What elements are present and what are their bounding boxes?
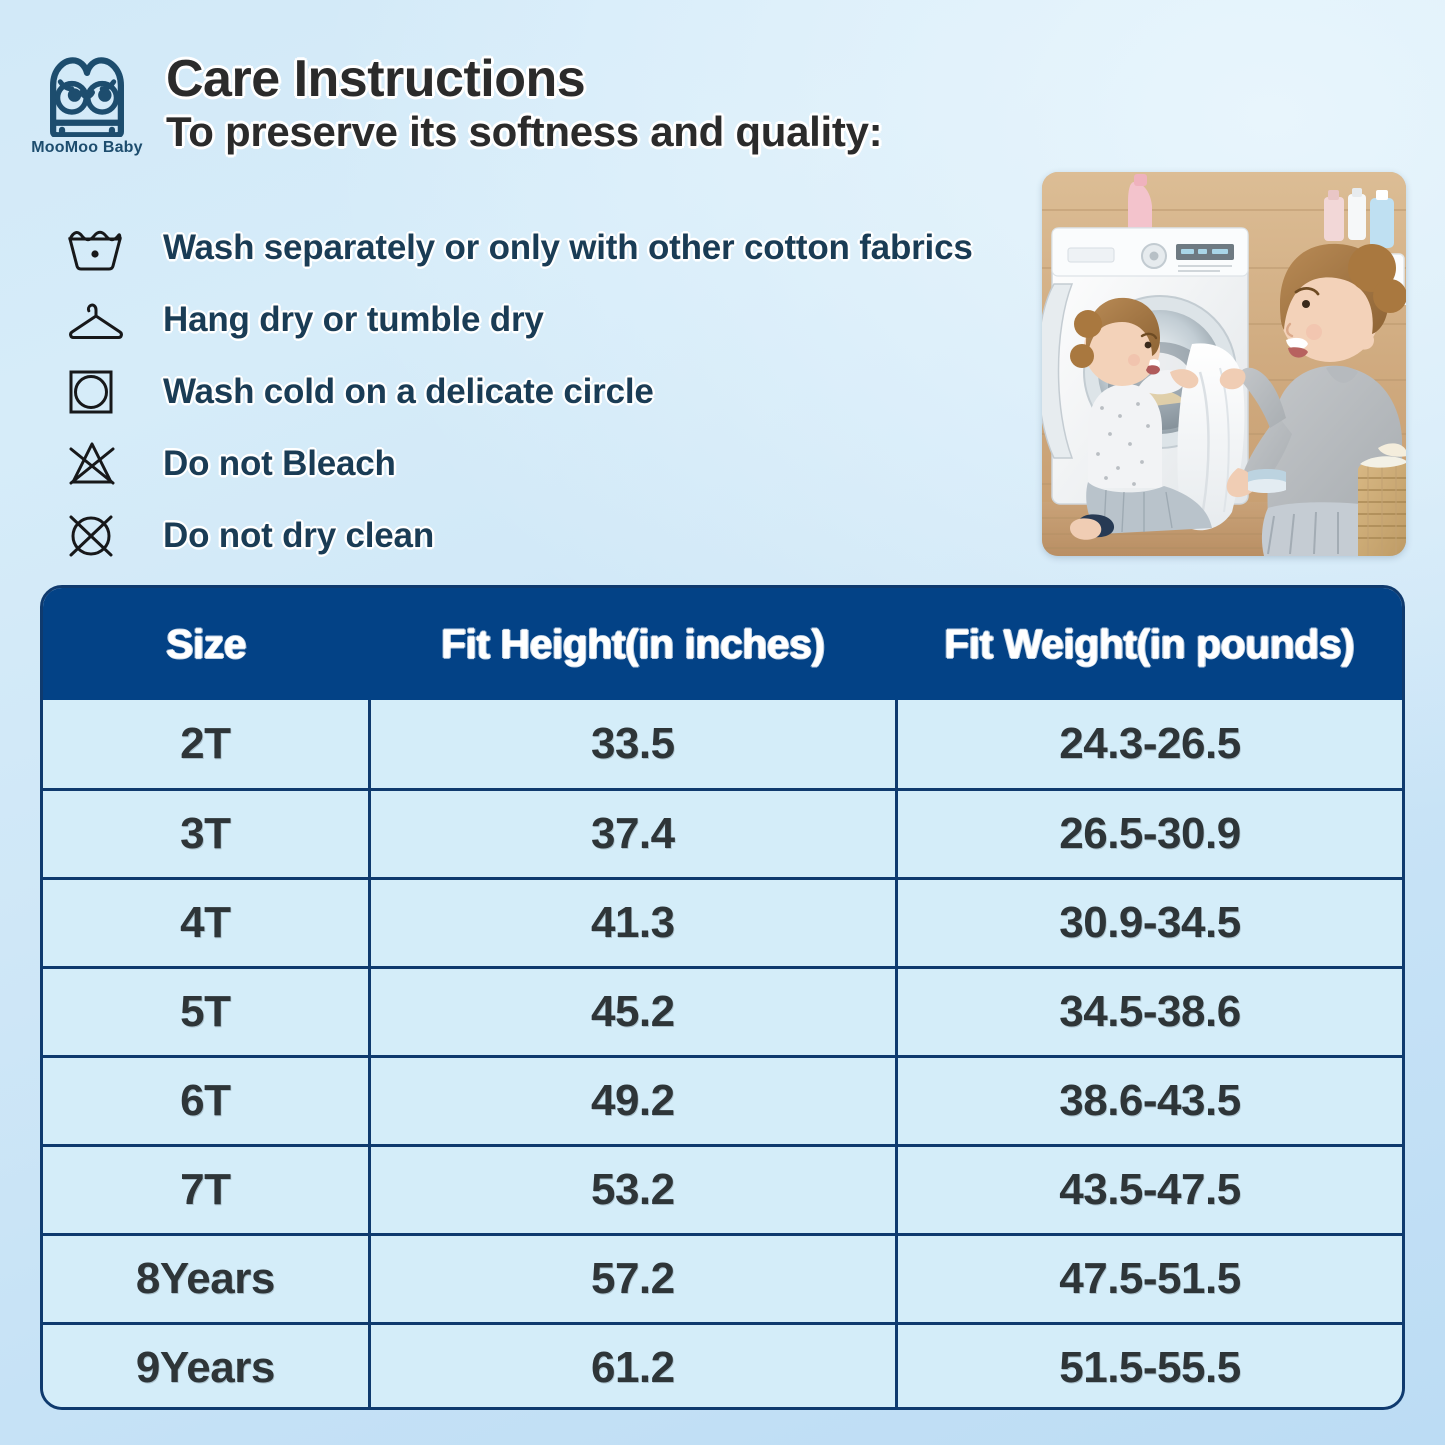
cell-weight: 26.5-30.9 — [896, 789, 1402, 878]
care-instruction-item: Wash cold on a delicate circle — [66, 356, 1046, 428]
table-row: 6T 49.2 38.6-43.5 — [43, 1056, 1402, 1145]
cell-weight: 47.5-51.5 — [896, 1234, 1402, 1323]
care-instruction-label: Wash separately or only with other cotto… — [163, 228, 973, 268]
table-row: 7T 53.2 43.5-47.5 — [43, 1145, 1402, 1234]
laundry-photo — [1042, 172, 1406, 556]
care-instruction-label: Wash cold on a delicate circle — [163, 372, 654, 412]
care-instruction-item: Do not dry clean — [66, 500, 1046, 572]
cell-height: 61.2 — [369, 1323, 896, 1410]
cell-size: 2T — [43, 700, 369, 789]
table-row: 8Years 57.2 47.5-51.5 — [43, 1234, 1402, 1323]
cell-height: 57.2 — [369, 1234, 896, 1323]
cell-size: 3T — [43, 789, 369, 878]
cell-weight: 30.9-34.5 — [896, 878, 1402, 967]
cell-size: 8Years — [43, 1234, 369, 1323]
column-header-height: Fit Height(in inches) — [369, 588, 896, 700]
size-chart-table: Size Fit Height(in inches) Fit Weight(in… — [40, 585, 1405, 1410]
cell-size: 5T — [43, 967, 369, 1056]
page-header: MooMoo Baby Care Instructions To preserv… — [0, 0, 1445, 180]
cell-size: 9Years — [43, 1323, 369, 1410]
page-subtitle: To preserve its softness and quality: — [166, 108, 882, 155]
cell-size: 6T — [43, 1056, 369, 1145]
table-row: 2T 33.5 24.3-26.5 — [43, 700, 1402, 789]
care-instruction-list: Wash separately or only with other cotto… — [66, 212, 1046, 572]
care-instruction-item: Hang dry or tumble dry — [66, 284, 1046, 356]
page-title: Care Instructions — [166, 52, 882, 106]
cell-size: 4T — [43, 878, 369, 967]
care-instruction-label: Hang dry or tumble dry — [163, 300, 544, 340]
brand-logo: MooMoo Baby — [22, 55, 152, 156]
hanger-icon — [66, 293, 130, 347]
column-header-weight: Fit Weight(in pounds) — [896, 588, 1402, 700]
laundry-photo-image — [1042, 172, 1406, 556]
owl-logo-icon — [41, 55, 133, 137]
cell-weight: 43.5-47.5 — [896, 1145, 1402, 1234]
care-instruction-label: Do not dry clean — [163, 516, 434, 556]
table-row: 4T 41.3 30.9-34.5 — [43, 878, 1402, 967]
table-row: 3T 37.4 26.5-30.9 — [43, 789, 1402, 878]
cell-height: 37.4 — [369, 789, 896, 878]
do-not-dry-clean-icon — [66, 509, 130, 563]
cell-height: 45.2 — [369, 967, 896, 1056]
cell-height: 53.2 — [369, 1145, 896, 1234]
cell-height: 33.5 — [369, 700, 896, 789]
tumble-dry-icon — [66, 365, 130, 419]
table-row: 9Years 61.2 51.5-55.5 — [43, 1323, 1402, 1410]
care-instruction-item: Do not Bleach — [66, 428, 1046, 500]
wash-tub-icon — [66, 221, 130, 275]
cell-height: 49.2 — [369, 1056, 896, 1145]
table-row: 5T 45.2 34.5-38.6 — [43, 967, 1402, 1056]
cell-weight: 51.5-55.5 — [896, 1323, 1402, 1410]
cell-weight: 38.6-43.5 — [896, 1056, 1402, 1145]
cell-weight: 24.3-26.5 — [896, 700, 1402, 789]
column-header-size: Size — [43, 588, 369, 700]
table-header-row: Size Fit Height(in inches) Fit Weight(in… — [43, 588, 1402, 700]
title-block: Care Instructions To preserve its softne… — [166, 52, 882, 155]
do-not-bleach-icon — [66, 437, 130, 491]
cell-size: 7T — [43, 1145, 369, 1234]
care-instruction-item: Wash separately or only with other cotto… — [66, 212, 1046, 284]
care-instruction-label: Do not Bleach — [163, 444, 396, 484]
cell-weight: 34.5-38.6 — [896, 967, 1402, 1056]
cell-height: 41.3 — [369, 878, 896, 967]
brand-name: MooMoo Baby — [22, 140, 152, 156]
